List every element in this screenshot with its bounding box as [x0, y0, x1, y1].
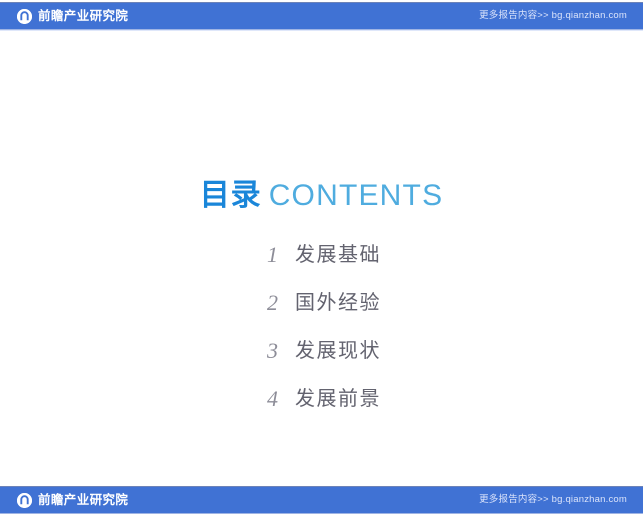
- header-brand-bar: 前瞻产业研究院 更多报告内容>> bg.qianzhan.com: [0, 2, 643, 30]
- list-item[interactable]: 4 发展前景: [0, 375, 643, 423]
- page-title: 目录CONTENTS: [0, 181, 643, 211]
- list-item-label: 国外经验: [295, 293, 381, 313]
- page-title-en: CONTENTS: [269, 179, 444, 212]
- list-item[interactable]: 1 发展基础: [0, 231, 643, 279]
- list-item[interactable]: 3 发展现状: [0, 327, 643, 375]
- page-title-cn: 目录: [200, 179, 262, 212]
- list-item-number: 4: [267, 388, 295, 410]
- header-brand-name: 前瞻产业研究院: [38, 10, 128, 23]
- list-item-number: 2: [267, 292, 295, 314]
- footer-promo-text[interactable]: 更多报告内容>> bg.qianzhan.com: [479, 495, 643, 505]
- list-item-number: 3: [267, 340, 295, 362]
- list-item-label: 发展基础: [295, 245, 381, 265]
- list-item-label: 发展现状: [295, 341, 381, 361]
- list-item[interactable]: 2 国外经验: [0, 279, 643, 327]
- arch-circle-logo-icon: [17, 493, 32, 508]
- arch-circle-logo-icon: [17, 9, 32, 24]
- table-of-contents-list: 1 发展基础 2 国外经验 3 发展现状 4 发展前景: [0, 231, 643, 423]
- list-item-number: 1: [267, 244, 295, 266]
- slide-content: 目录CONTENTS 1 发展基础 2 国外经验 3 发展现状 4 发展前景: [0, 31, 643, 486]
- header-promo-text[interactable]: 更多报告内容>> bg.qianzhan.com: [479, 11, 643, 21]
- footer-brand-bar: 前瞻产业研究院 更多报告内容>> bg.qianzhan.com: [0, 486, 643, 514]
- list-item-label: 发展前景: [295, 389, 381, 409]
- footer-brand-group: 前瞻产业研究院: [0, 493, 128, 508]
- footer-brand-name: 前瞻产业研究院: [38, 494, 128, 507]
- header-brand-group: 前瞻产业研究院: [0, 9, 128, 24]
- slide-canvas: 前瞻产业研究院 更多报告内容>> bg.qianzhan.com 目录CONTE…: [0, 0, 643, 517]
